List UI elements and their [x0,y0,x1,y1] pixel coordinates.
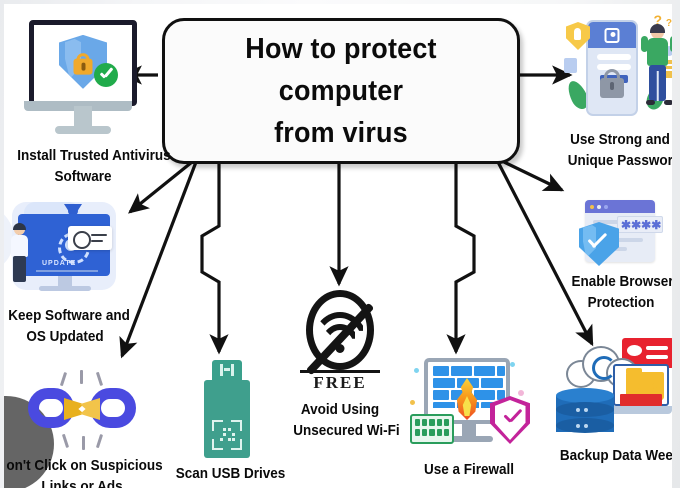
node-backup-data[interactable]: Backup Data Weekl [550,338,672,467]
page-title: How to protect computer from virus [177,28,504,154]
arrow-to-browser-protection [504,162,562,190]
label-line-1: on't Click on Suspicious [6,457,162,474]
node-label: Avoid Using Unsecured Wi-Fi [293,400,387,441]
phone-login-person-icon: ? ? [564,14,672,124]
no-free-wifi-icon: FREE [292,290,388,388]
cloud-backup-database-laptop-icon [552,338,672,442]
keyboard-icon [410,414,454,444]
node-use-firewall[interactable]: Use a Firewall [402,356,536,481]
label-line-1: Keep Software and [8,307,130,324]
label-line-1: Use Strong and [570,131,670,148]
node-label: Scan USB Drives Before Use [176,464,279,488]
label-line-1: Avoid Using [301,401,379,418]
node-browser-protection[interactable]: ✱✱✱✱ Enable Browser Protection [566,200,672,313]
node-strong-passwords[interactable]: ? ? Use Strong [562,14,672,171]
node-label: Backup Data Weekl [556,446,669,467]
node-avoid-suspicious-links[interactable]: on't Click on Suspicious Links or Ads [4,372,166,488]
browser-window-shield-password-icon: ✱✱✱✱ [579,200,663,266]
node-scan-usb[interactable]: Scan USB Drives Before Use [170,360,284,488]
monitor-update-gear-icon: UPDATE [6,202,124,300]
free-badge-text: FREE [292,373,388,393]
label-line-2: Links or Ads [41,478,122,488]
node-label: Enable Browser Protection [572,272,671,313]
node-avoid-wifi[interactable]: FREE Avoid Using Unsecured Wi-Fi [288,290,392,441]
node-label: Install Trusted Antivirus Software [17,146,148,187]
label-line-1: Install Trusted Antivirus [17,147,170,164]
node-label: Use a Firewall [409,460,530,481]
shield-check-icon [490,396,530,444]
monitor-shield-lock-check-icon [29,20,137,136]
label-line-2: OS Updated [26,328,103,345]
arrow-to-use-firewall [456,162,474,352]
arrow-to-avoid-suspicious-links [122,162,196,356]
title-line-1: How to protect computer [245,33,436,107]
database-icon [556,388,614,440]
central-title-box: How to protect computer from virus [162,18,520,164]
node-label: Keep Software and OS Updated [8,306,121,347]
label-line-2: Unsecured Wi-Fi [293,422,399,439]
label-line-2: Unique Passwords [568,152,672,169]
arrow-to-scan-usb [202,162,219,352]
infographic-artboard: How to protect computer from virus Insta… [4,4,672,488]
label-line-1: Enable Browser [572,273,673,290]
screen-update-text: UPDATE [42,260,76,267]
password-field-mask: ✱✱✱✱ [617,216,663,233]
usb-drive-scan-icon [200,360,254,458]
node-keep-updated[interactable]: UPDATE Keep Software and [4,202,128,347]
infographic-canvas: How to protect computer from virus Insta… [0,0,680,488]
node-label: on't Click on Suspicious Links or Ads [6,456,157,488]
label-line-1: Backup Data Weekl [560,447,672,464]
label-line-2: Software [54,168,111,185]
label-line-2: Protection [588,294,655,311]
node-install-antivirus[interactable]: Install Trusted Antivirus Software [10,20,156,187]
monitor-brickwall-flame-shield-icon [410,356,528,456]
title-line-2: from virus [274,117,408,149]
node-label: Use Strong and Unique Passwords [568,130,672,171]
label-line-1: Scan USB Drives [176,465,286,482]
broken-chain-link-icon [28,372,136,452]
label-line-1: Use a Firewall [424,461,514,478]
